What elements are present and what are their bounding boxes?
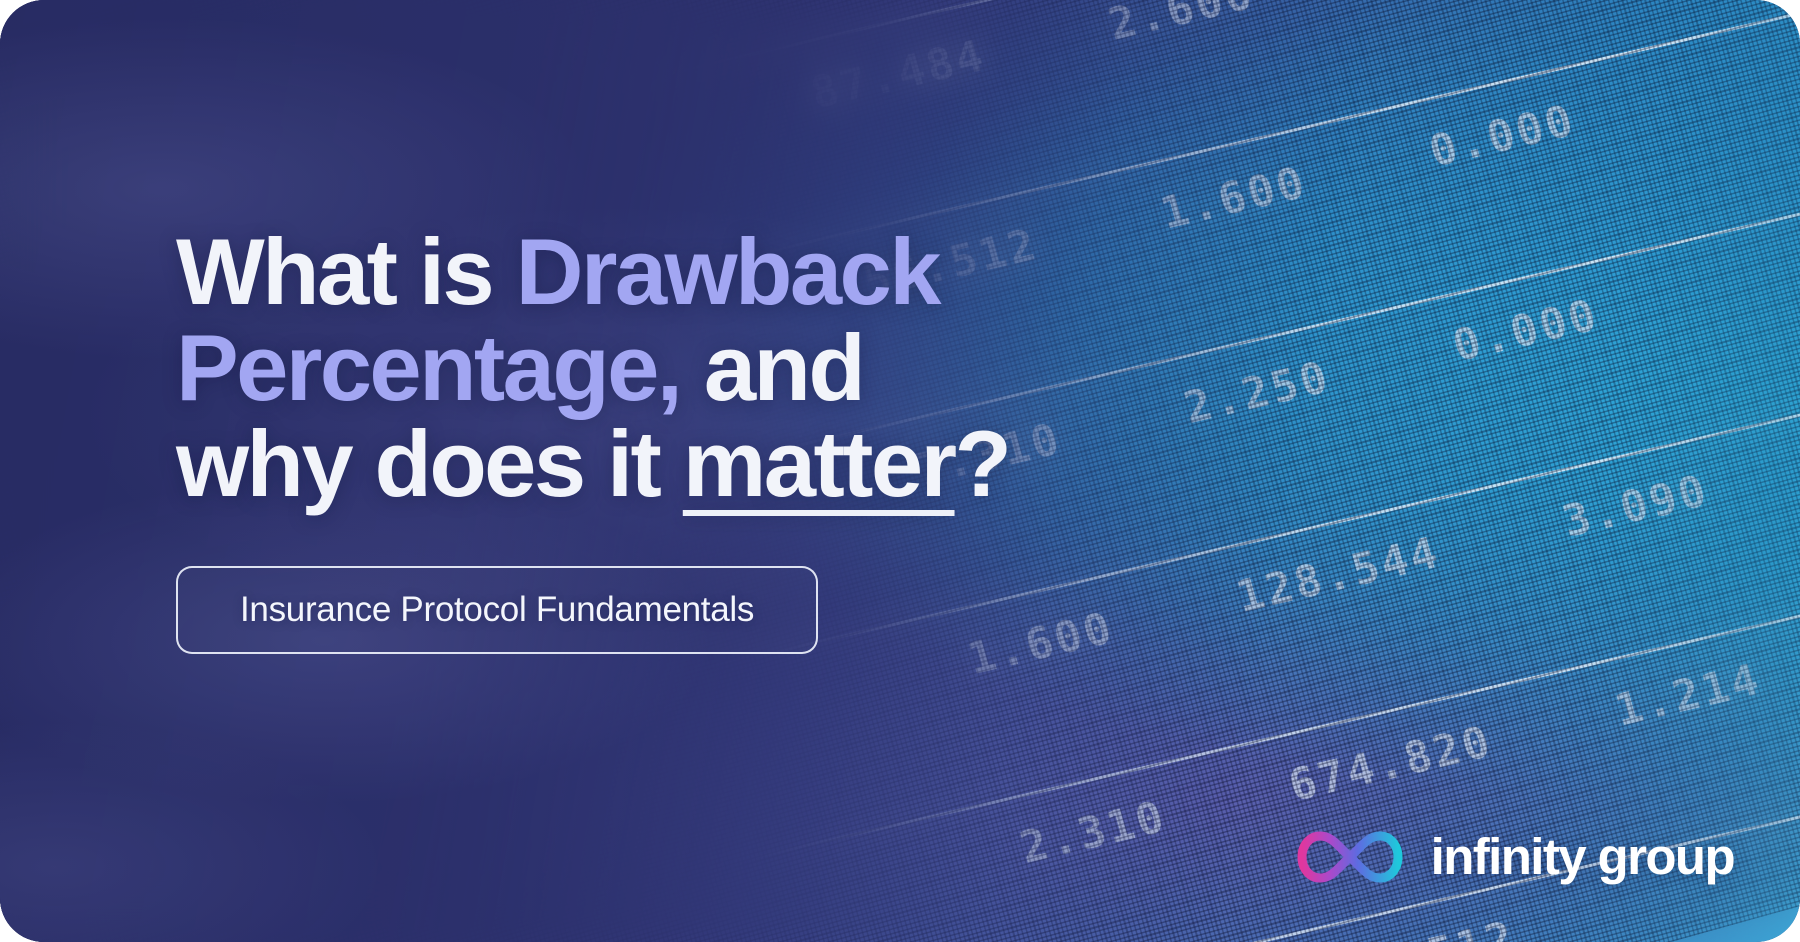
headline-plain-2: and	[680, 315, 863, 420]
headline-line-1: What is Drawback	[176, 224, 1216, 320]
headline-line-3: why does it matter?	[176, 416, 1216, 512]
headline-accent-2: Percentage,	[176, 315, 680, 420]
brand-wordmark: infinity group	[1431, 827, 1734, 886]
infinity-symbol-icon	[1291, 828, 1409, 886]
promo-card: 0.450 0.000 87.484 2.600 0.000 56.512 1.…	[0, 0, 1800, 942]
brand-logo[interactable]: infinity group	[1291, 827, 1734, 886]
headline-underlined-word: matter	[683, 411, 955, 516]
headline-accent-1: Drawback	[516, 219, 939, 324]
page-title: What is Drawback Percentage, and why doe…	[176, 224, 1216, 512]
headline-tail: ?	[955, 411, 1010, 516]
cta-button[interactable]: Insurance Protocol Fundamentals	[176, 566, 818, 654]
content-column: What is Drawback Percentage, and why doe…	[176, 0, 1216, 942]
headline-plain-3: why does it	[176, 411, 683, 516]
headline-plain-1: What is	[176, 219, 516, 324]
headline-line-2: Percentage, and	[176, 320, 1216, 416]
